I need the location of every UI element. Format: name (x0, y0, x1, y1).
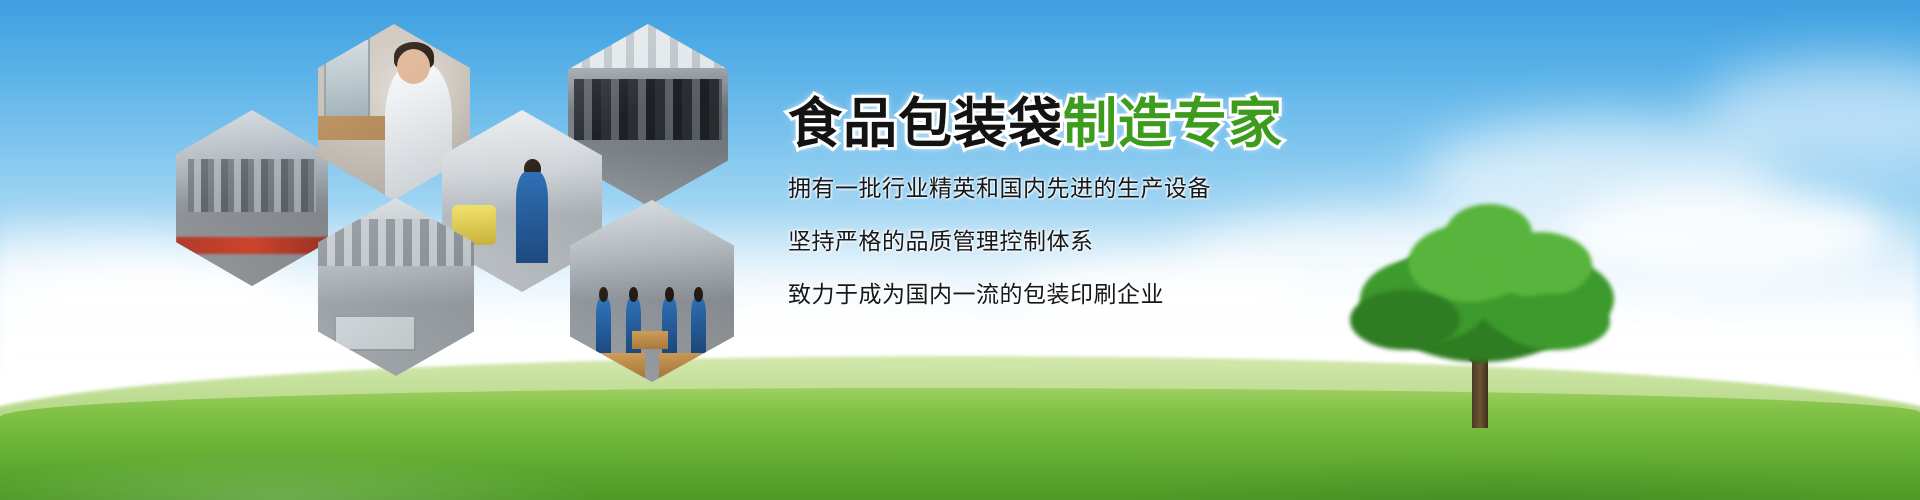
headline: 食品包装袋制造专家 (788, 96, 1488, 153)
subline-3: 致力于成为国内一流的包装印刷企业 (788, 275, 1488, 316)
subline-2: 坚持严格的品质管理控制体系 (788, 222, 1488, 263)
hex-photo-warehouse-aisle[interactable] (176, 110, 328, 286)
hero-banner: 食品包装袋制造专家 拥有一批行业精英和国内先进的生产设备 坚持严格的品质管理控制… (0, 0, 1920, 500)
subline-1: 拥有一批行业精英和国内先进的生产设备 (788, 169, 1488, 210)
grass-shading (0, 388, 1920, 500)
banner-copy: 食品包装袋制造专家 拥有一批行业精英和国内先进的生产设备 坚持严格的品质管理控制… (788, 96, 1488, 316)
headline-part-dark: 食品包装袋 (788, 92, 1063, 155)
hex-photo-collage (170, 18, 780, 358)
tree-canopy (1500, 294, 1610, 350)
headline-part-green: 制造专家 (1063, 92, 1283, 155)
